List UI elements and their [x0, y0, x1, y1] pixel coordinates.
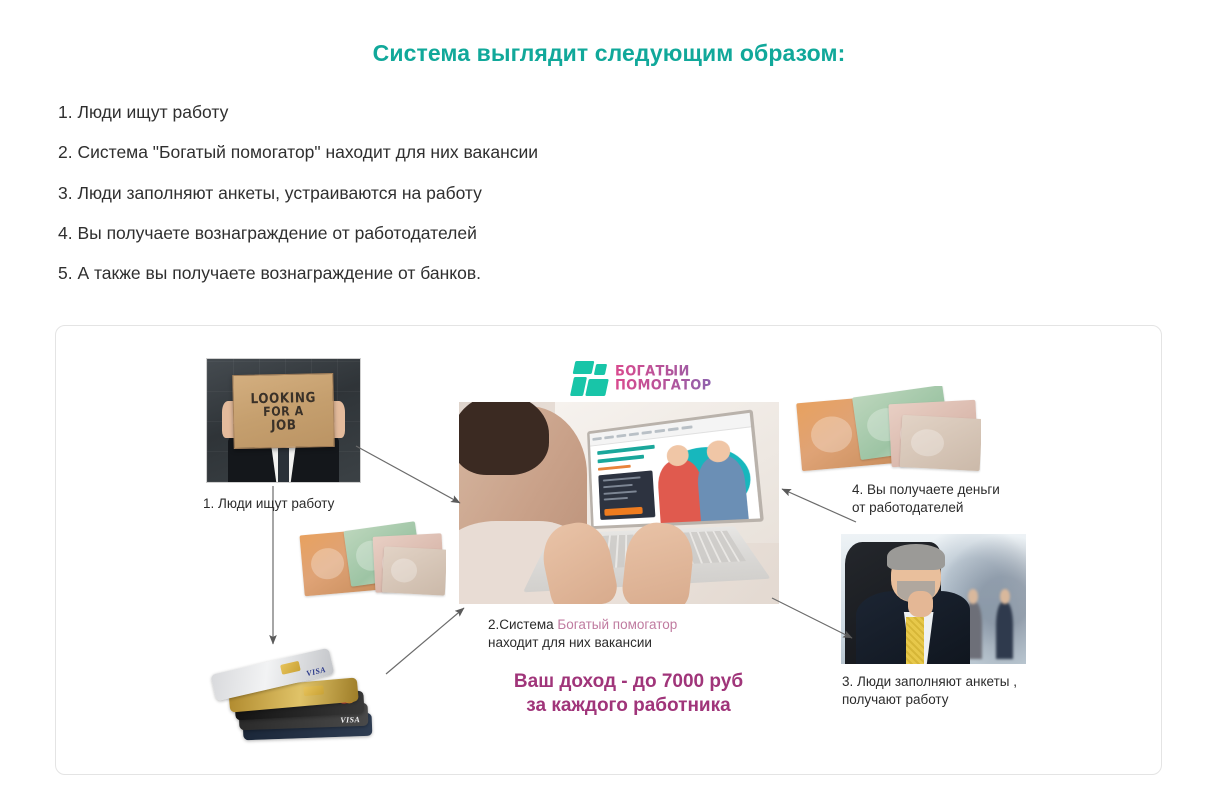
caption-step-2-brand: Богатый помогатор [557, 617, 677, 632]
step-item-3: 3. Люди заполняют анкеты, устраиваются н… [58, 184, 1218, 203]
caption-step-2-suffix: находит для них вакансии [488, 635, 652, 650]
businessman-hair [887, 544, 944, 570]
businessman-tie [906, 617, 925, 664]
visa-label: VISA [340, 715, 360, 725]
arrow-system-to-employer [772, 598, 852, 638]
diagram-card: БОГАТЫЙ ПОМОГАТОР LOOKING FOR A JOB [55, 325, 1162, 775]
arrow-cards-to-system [386, 608, 464, 674]
caption-step-2-prefix: 2.Система [488, 617, 557, 632]
card-chip-icon [280, 660, 301, 674]
photo-credit-cards: VISA VISA [196, 646, 391, 751]
site-heading-1 [597, 445, 654, 455]
businessman-hand [908, 591, 934, 617]
step-item-2: 2. Система "Богатый помогатор" находит д… [58, 143, 1218, 162]
caption-step-3-line-2: получают работу [842, 692, 949, 707]
caption-step-4-line-2: от работодателей [852, 500, 963, 515]
banknote [900, 415, 981, 471]
visa-label: VISA [305, 664, 326, 677]
caption-step-2: 2.Система Богатый помогатор находит для … [488, 616, 778, 652]
laptop-screen [587, 410, 764, 530]
photo-money-banknotes-mid [296, 521, 446, 601]
steps-list: 1. Люди ищут работу 2. Система "Богатый … [0, 103, 1218, 283]
woman-hair [459, 402, 549, 475]
arrow-employer-money-to-system [782, 489, 856, 522]
photo-money-banknotes-top [791, 386, 981, 476]
jobseeker-tie [278, 448, 289, 482]
sign-line-3: JOB [271, 418, 297, 432]
step-item-4: 4. Вы получаете вознаграждение от работо… [58, 224, 1218, 243]
income-statement: Ваш доход - до 7000 руб за каждого работ… [476, 670, 781, 719]
cardboard-sign: LOOKING FOR A JOB [232, 373, 334, 449]
card-chip-icon [303, 685, 324, 695]
site-submit-button [604, 507, 643, 517]
step-item-1: 1. Люди ищут работу [58, 103, 1218, 122]
caption-step-3-line-1: 3. Люди заполняют анкеты , [842, 674, 1017, 689]
photo-businessman [841, 534, 1026, 664]
diagram-inner: БОГАТЫЙ ПОМОГАТОР LOOKING FOR A JOB [56, 326, 1161, 774]
caption-step-4-line-1: 4. Вы получаете деньги [852, 482, 1000, 497]
site-form-panel [598, 470, 655, 520]
logo-mark-icon [572, 359, 608, 399]
photo-laptop-user [459, 402, 779, 604]
background-person [996, 602, 1013, 659]
caption-step-3: 3. Люди заполняют анкеты , получают рабо… [842, 673, 1072, 709]
brand-logo: БОГАТЫЙ ПОМОГАТОР [572, 353, 702, 405]
banknote [382, 547, 446, 597]
site-heading-3 [598, 465, 631, 471]
caption-step-4: 4. Вы получаете деньги от работодателей [852, 481, 1072, 517]
income-line-1: Ваш доход - до 7000 руб [514, 671, 743, 692]
page-title: Система выглядит следующим образом: [0, 0, 1218, 67]
caption-step-1: 1. Люди ищут работу [203, 495, 423, 513]
step-item-5: 5. А также вы получаете вознаграждение о… [58, 264, 1218, 283]
site-heading-2 [597, 455, 643, 464]
income-line-2: за каждого работника [526, 695, 730, 716]
photo-jobseeker: LOOKING FOR A JOB [206, 358, 361, 483]
logo-line-2: ПОМОГАТОР [615, 378, 711, 393]
logo-text: БОГАТЫЙ ПОМОГАТОР [615, 365, 711, 393]
